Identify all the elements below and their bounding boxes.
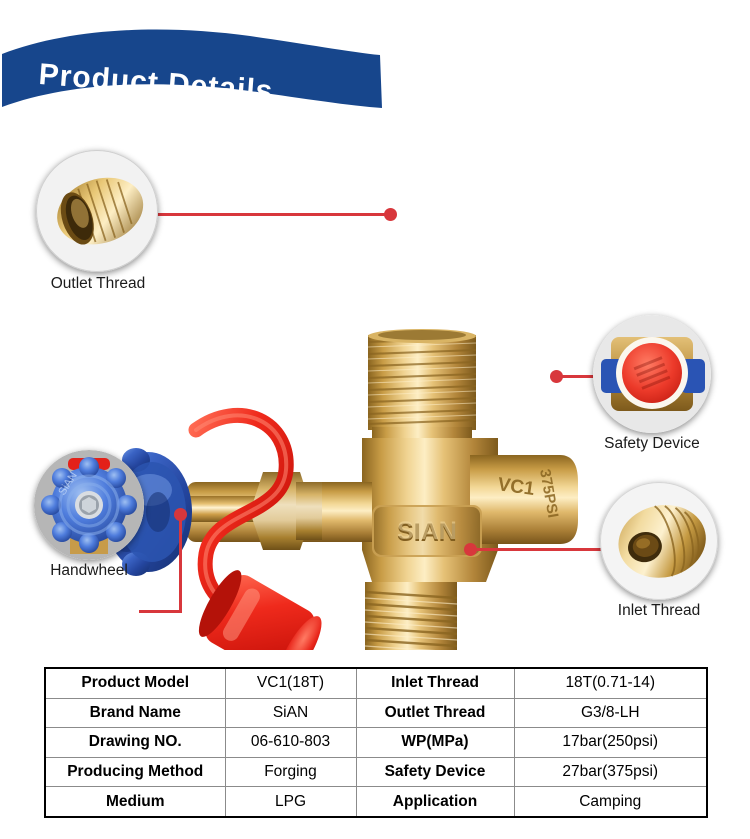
spec-key: Safety Device: [356, 757, 514, 787]
svg-text:SIAN: SIAN: [397, 517, 457, 545]
inset-label-outlet-thread: Outlet Thread: [22, 275, 174, 293]
spec-key: Drawing NO.: [45, 728, 225, 758]
spec-value: 06-610-803: [225, 728, 356, 758]
inset-label-handwheel: Handwheel: [16, 562, 162, 580]
callout-line-outlet-thread: [143, 213, 388, 216]
specification-table: Product Model VC1(18T) Inlet Thread 18T(…: [44, 667, 708, 818]
product-details-page: Product Details: [0, 0, 750, 839]
table-row: Medium LPG Application Camping: [45, 787, 707, 817]
spec-value: Forging: [225, 757, 356, 787]
callout-line-inlet-thread: [470, 548, 612, 551]
spec-value: 18T(0.71-14): [514, 668, 707, 698]
table-row: Product Model VC1(18T) Inlet Thread 18T(…: [45, 668, 707, 698]
callout-dot-handwheel: [174, 508, 187, 521]
spec-key: Outlet Thread: [356, 698, 514, 728]
inset-outlet-thread: [36, 150, 158, 272]
spec-value: Camping: [514, 787, 707, 817]
callout-line-handwheel-horizontal: [139, 610, 182, 613]
spec-key: Medium: [45, 787, 225, 817]
spec-value: 27bar(375psi): [514, 757, 707, 787]
callout-line-handwheel-vertical: [179, 513, 182, 613]
table-row: Brand Name SiAN Outlet Thread G3/8-LH: [45, 698, 707, 728]
banner-ribbon-shape: [0, 22, 420, 122]
spec-key: Brand Name: [45, 698, 225, 728]
spec-key: Producing Method: [45, 757, 225, 787]
spec-key: Inlet Thread: [356, 668, 514, 698]
inset-safety-device: [593, 315, 711, 433]
inset-inlet-thread: [600, 482, 718, 600]
callout-dot-outlet-thread: [384, 208, 397, 221]
spec-value: 17bar(250psi): [514, 728, 707, 758]
outlet-thread-stem: [368, 329, 476, 439]
page-banner: Product Details: [0, 22, 420, 122]
spec-value: LPG: [225, 787, 356, 817]
inlet-thread-stem: [365, 582, 457, 650]
spec-value: SiAN: [225, 698, 356, 728]
inset-label-inlet-thread: Inlet Thread: [585, 602, 733, 620]
table-row: Producing Method Forging Safety Device 2…: [45, 757, 707, 787]
spec-key: Product Model: [45, 668, 225, 698]
spec-value: VC1(18T): [225, 668, 356, 698]
spec-value: G3/8-LH: [514, 698, 707, 728]
callout-dot-safety-device: [550, 370, 563, 383]
inset-label-safety-device: Safety Device: [578, 435, 726, 453]
product-photo-area: SIAN SIAN VC1 375PSI: [0, 130, 750, 650]
callout-dot-inlet-thread: [464, 543, 477, 556]
spec-key: Application: [356, 787, 514, 817]
spec-key: WP(MPa): [356, 728, 514, 758]
inset-handwheel: SiAN: [34, 450, 144, 560]
table-row: Drawing NO. 06-610-803 WP(MPa) 17bar(250…: [45, 728, 707, 758]
